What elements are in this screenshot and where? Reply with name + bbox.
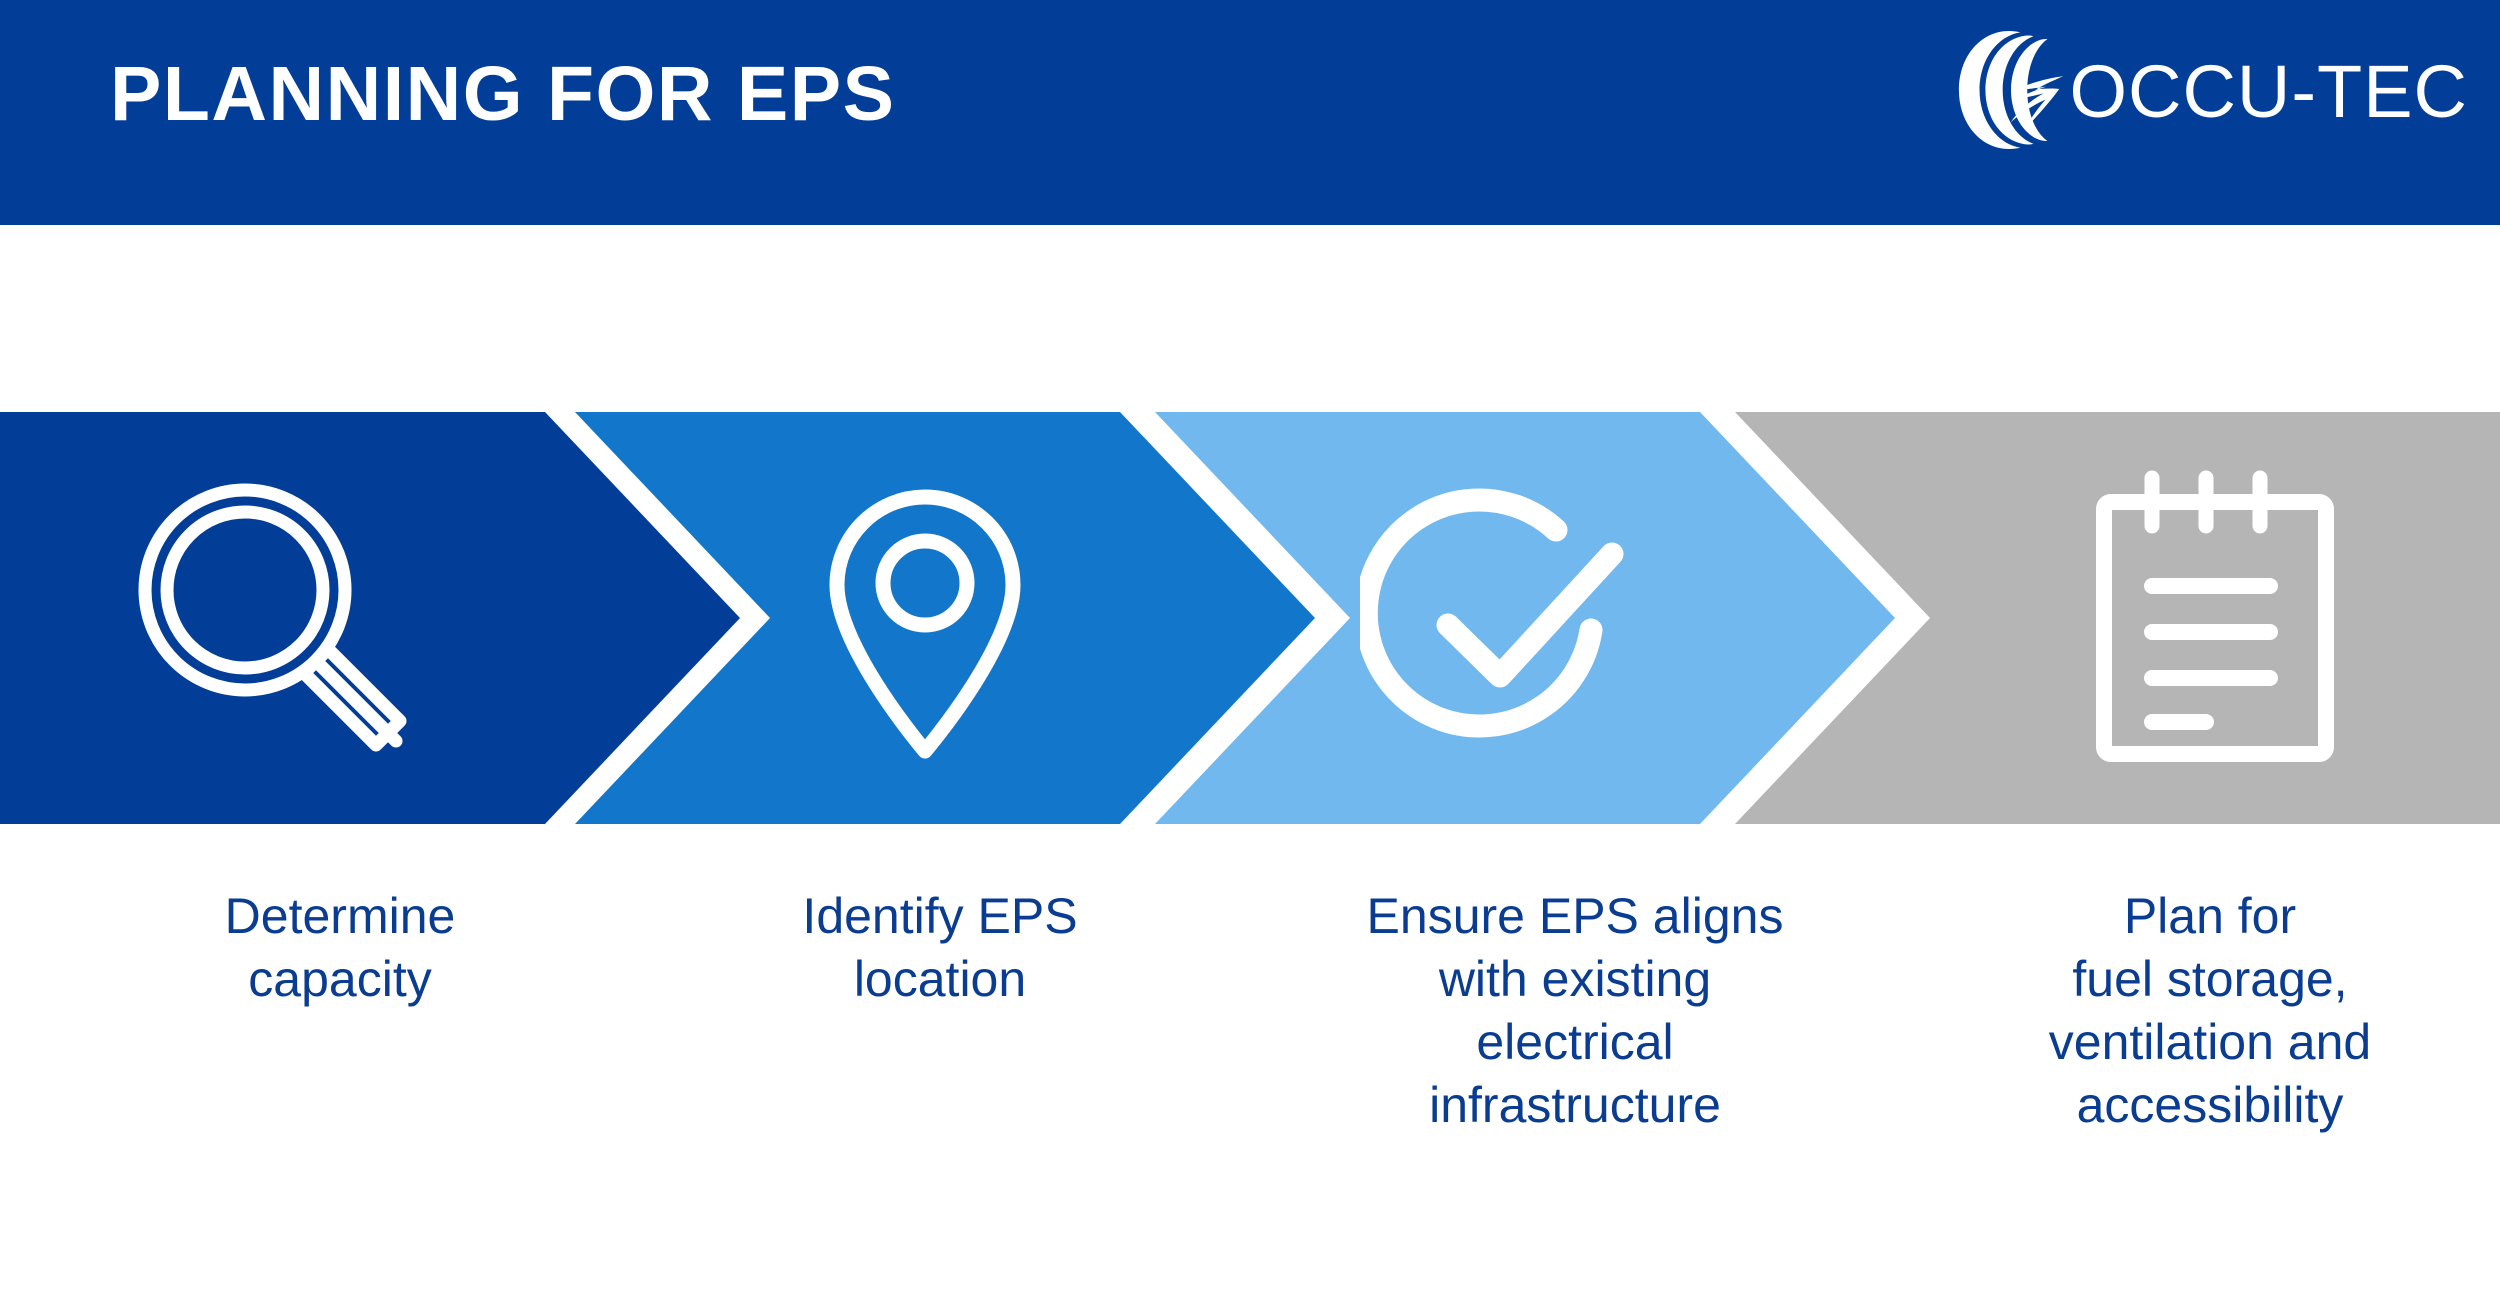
brand-logo: OCCU-TEC (1953, 22, 2468, 157)
caption-line: capacity (30, 948, 650, 1011)
chevron-step-4[interactable] (1735, 412, 2500, 824)
icon-slot-4 (1930, 468, 2500, 768)
caption-line: location (660, 948, 1220, 1011)
icon-slot-3 (1295, 473, 1715, 763)
caption-line: with existing (1290, 948, 1860, 1011)
icon-slot-2 (715, 473, 1135, 763)
caption-step-2: Identify EPS location (660, 885, 1220, 1011)
notepad-icon (2090, 468, 2340, 768)
occu-tec-swoosh-logo-icon (1953, 27, 2071, 153)
caption-line: Ensure EPS aligns (1290, 885, 1860, 948)
caption-line: Determine (30, 885, 650, 948)
page-title: PLANNING FOR EPS (110, 52, 896, 137)
check-circle-icon (1360, 473, 1650, 763)
caption-line: accessibility (1930, 1074, 2490, 1137)
caption-step-1: Determine capacity (30, 885, 650, 1011)
header-bar: PLANNING FOR EPS OCCU-TEC (0, 0, 2500, 225)
caption-line: infrastructure (1290, 1074, 1860, 1137)
caption-step-3: Ensure EPS aligns with existing electric… (1290, 885, 1860, 1137)
caption-line: Identify EPS (660, 885, 1220, 948)
caption-line: ventilation and (1930, 1011, 2490, 1074)
caption-step-4: Plan for fuel storage, ventilation and a… (1930, 885, 2490, 1137)
brand-wordmark: OCCU-TEC (2069, 55, 2468, 129)
magnifying-glass-icon (128, 473, 418, 763)
icon-slot-1 (0, 473, 545, 763)
caption-line: electrical (1290, 1011, 1860, 1074)
caption-line: Plan for (1930, 885, 2490, 948)
caption-line: fuel storage, (1930, 948, 2490, 1011)
process-chevron-band (0, 412, 2500, 824)
location-pin-icon (810, 473, 1040, 763)
